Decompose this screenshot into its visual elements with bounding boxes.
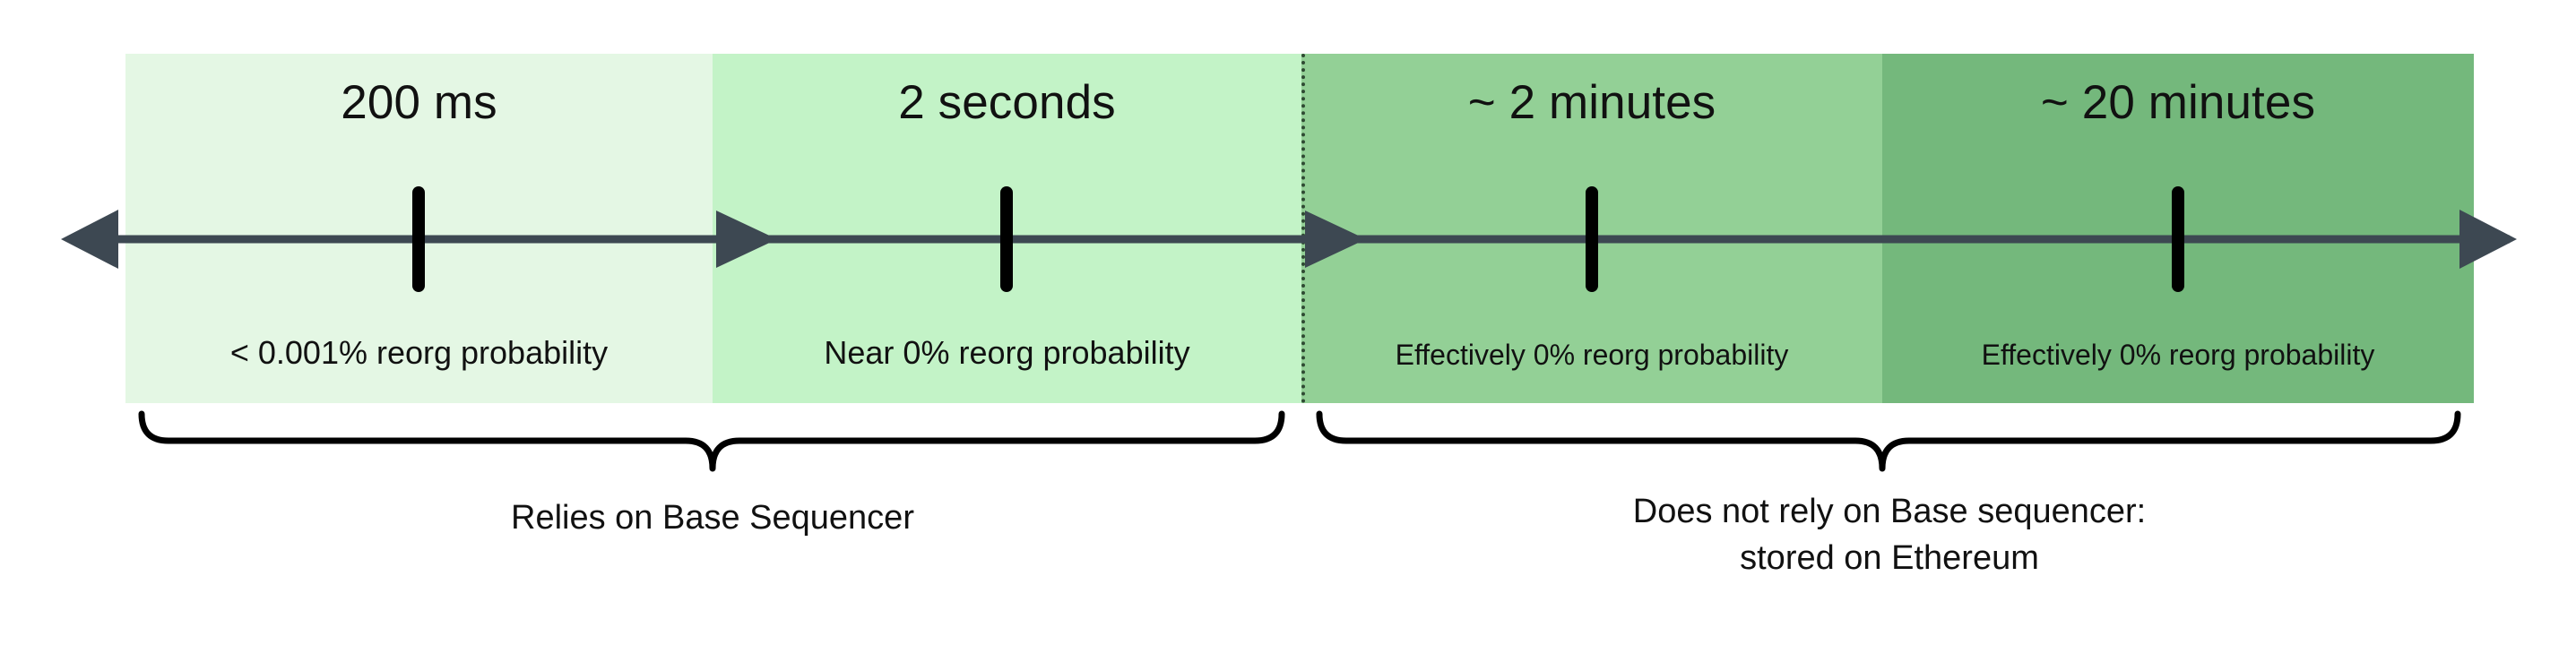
group-caption-relies-on-sequencer: Relies on Base Sequencer	[85, 494, 1340, 541]
band-label-2-minutes: ~ 2 minutes	[1301, 79, 1882, 126]
tick-mark-2-seconds	[1000, 186, 1013, 292]
brace-group-relies-on-sequencer	[142, 414, 1282, 469]
band-sublabel-20-minutes: Effectively 0% reorg probability	[1882, 340, 2474, 369]
brace-group-ethereum-backed	[1319, 414, 2458, 469]
band-sublabel-2-minutes: Effectively 0% reorg probability	[1301, 340, 1882, 369]
left-arrowhead	[61, 210, 118, 269]
band-label-20-minutes: ~ 20 minutes	[1882, 79, 2474, 126]
band-sublabel-2-seconds: Near 0% reorg probability	[713, 337, 1301, 369]
tick-mark-20-minutes	[2172, 186, 2184, 292]
tick-mark-2-minutes	[1586, 186, 1598, 292]
tick-mark-200ms	[412, 186, 425, 292]
group-caption-ethereum-backed: Does not rely on Base sequencer: stored …	[1262, 488, 2517, 582]
sequencer-boundary-divider	[1301, 54, 1305, 403]
group-braces	[142, 414, 2458, 469]
diagram-canvas: 200 ms < 0.001% reorg probability 2 seco…	[0, 0, 2576, 662]
band-sublabel-200ms: < 0.001% reorg probability	[125, 337, 713, 369]
band-label-200ms: 200 ms	[125, 79, 713, 126]
band-label-2-seconds: 2 seconds	[713, 79, 1301, 126]
